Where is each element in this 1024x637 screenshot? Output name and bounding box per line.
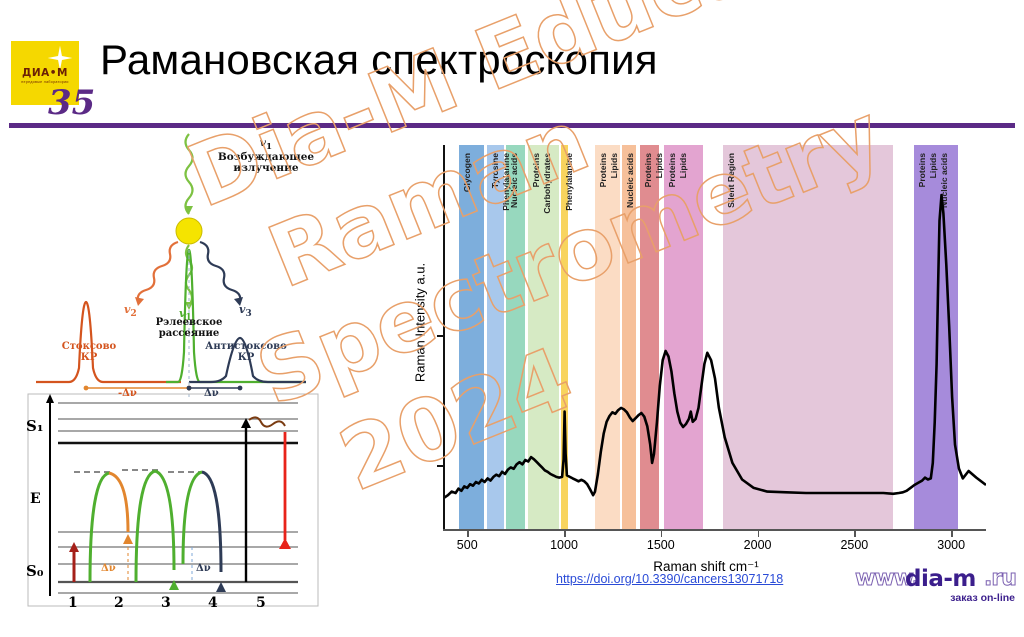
spectrum-trace: [444, 145, 986, 530]
x-axis-tick: [467, 531, 469, 537]
diagram-graphics: [6, 132, 342, 627]
x-axis-tick-label: 500: [457, 538, 478, 552]
logo-tld: .ru: [984, 566, 1016, 591]
logo-brand: dia-m: [905, 566, 976, 592]
process-number: 2: [114, 596, 124, 611]
x-axis-tick: [564, 531, 566, 537]
energy-axis-label: E: [30, 492, 41, 507]
excitation-label: v1 Возбуждающее излучение: [202, 138, 330, 174]
x-axis-tick: [854, 531, 856, 537]
rayleigh-label: Рэлеевское рассеяние: [139, 318, 239, 339]
antistokes-nu-label: v3: [239, 304, 252, 319]
process-number: 3: [161, 596, 171, 611]
process-number: 4: [208, 596, 218, 611]
x-axis-tick-label: 1000: [550, 538, 578, 552]
excitation-nu: v1: [260, 137, 272, 149]
shift-minus-label: -Δν: [118, 389, 137, 400]
doi-link[interactable]: https://doi.org/10.3390/cancers13071718: [556, 572, 783, 586]
shift-plus-label: Δν: [204, 389, 219, 400]
slide-number: 35: [48, 83, 95, 123]
y-axis: [443, 145, 445, 530]
state-s1-label: S₁: [26, 419, 43, 435]
jablonski-delta-left: Δν: [101, 564, 116, 575]
process-number: 1: [68, 596, 78, 611]
dia-m-logo[interactable]: www. dia-m .ru заказ on-line: [855, 566, 1015, 606]
y-axis-tick: [437, 465, 444, 467]
antistokes-label: Антистоксово КР: [196, 342, 296, 363]
x-axis: [443, 529, 986, 531]
process-number: 5: [256, 596, 266, 611]
state-s0-label: S₀: [26, 564, 43, 580]
plot-area: ProteinsLipidsNucleic acidsSilent Region…: [444, 145, 986, 530]
stokes-label: Стоксово КР: [44, 342, 134, 363]
x-axis-tick: [758, 531, 760, 537]
logo-tagline: заказ on-line: [950, 592, 1015, 604]
header-divider: [9, 123, 1015, 128]
x-axis-tick-label: 2000: [744, 538, 772, 552]
x-axis-tick-label: 1500: [647, 538, 675, 552]
logo-name: ДИА•М: [11, 67, 79, 79]
page-title: Рамановская спектроскопия: [100, 36, 658, 84]
jablonski-delta-right: Δν: [196, 564, 211, 575]
x-axis-tick-label: 2500: [840, 538, 868, 552]
x-axis-tick: [951, 531, 953, 537]
x-axis-tick: [661, 531, 663, 537]
y-axis-tick: [437, 335, 444, 337]
slide: ДИА•М передовые лаборатории 35 Рамановск…: [0, 0, 1024, 637]
raman-spectrum-chart: ProteinsLipidsNucleic acidsSilent Region…: [396, 135, 1016, 565]
scattering-diagram: v1 Возбуждающее излучение v2 v1 v3 Рэлее…: [6, 132, 342, 627]
stokes-nu-label: v2: [124, 304, 137, 319]
x-axis-tick-label: 3000: [937, 538, 965, 552]
y-axis-title: Raman Intensity a.u.: [413, 203, 428, 443]
